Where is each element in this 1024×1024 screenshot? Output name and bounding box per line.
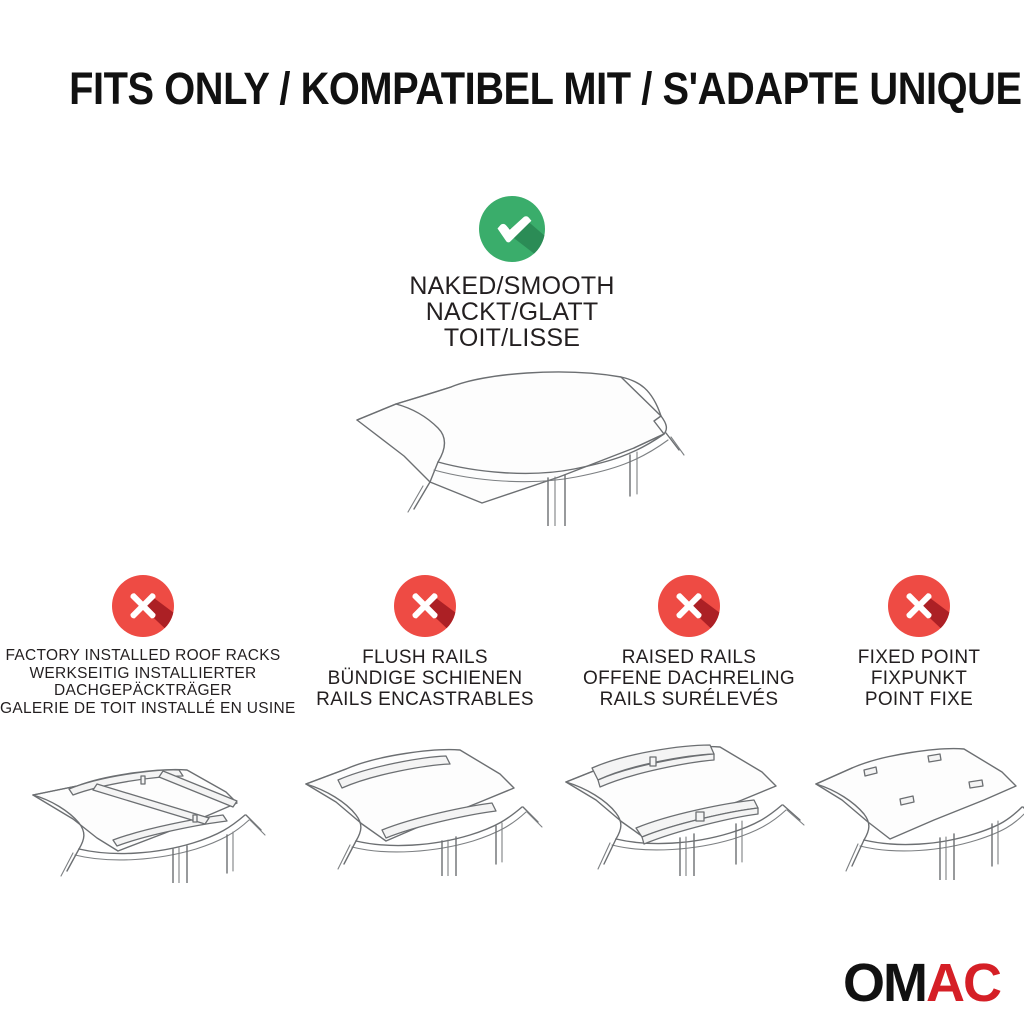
x-circle-icon xyxy=(394,575,456,637)
car-roof-factory-installed-roof-racks-illustration xyxy=(0,743,286,883)
rejected-caption-3: FIXED POINT FIXPUNKT POINT FIXE xyxy=(814,647,1024,710)
check-circle-icon xyxy=(479,196,545,262)
compatibility-infographic: FITS ONLY / KOMPATIBEL MIT / S'ADAPTE UN… xyxy=(0,0,1024,1024)
rejected-1-line-2: BÜNDIGE SCHIENEN xyxy=(286,668,564,689)
x-circle-icon xyxy=(888,575,950,637)
rejected-0-line-1: FACTORY INSTALLED ROOF RACKS xyxy=(0,647,286,665)
rejected-2-line-3: RAILS SURÉLEVÉS xyxy=(564,689,814,710)
rejected-caption-0: FACTORY INSTALLED ROOF RACKS WERKSEITIG … xyxy=(0,647,286,717)
rejected-0-line-2: WERKSEITIG INSTALLIERTER xyxy=(0,665,286,683)
omac-logo: OMAC xyxy=(843,956,1000,1010)
page-title-text: FITS ONLY / KOMPATIBEL MIT / S'ADAPTE UN… xyxy=(69,64,1024,114)
rejected-0-line-3: DACHGEPÄCKTRÄGER xyxy=(0,682,286,700)
rejected-3-line-2: FIXPUNKT xyxy=(814,668,1024,689)
rejected-2-line-1: RAISED RAILS xyxy=(564,647,814,668)
rejected-2-line-2: OFFENE DACHRELING xyxy=(564,668,814,689)
rejected-3-line-1: FIXED POINT xyxy=(814,647,1024,668)
rejected-roof-type-fixed-point: FIXED POINT FIXPUNKT POINT FIXE xyxy=(814,575,1024,880)
approved-line-1: NAKED/SMOOTH xyxy=(0,273,1024,299)
rejected-0-line-4: GALERIE DE TOIT INSTALLÉ EN USINE xyxy=(0,700,286,718)
car-roof-naked-smooth-illustration xyxy=(334,356,694,526)
rejected-roof-type-flush-rails: FLUSH RAILS BÜNDIGE SCHIENEN RAILS ENCAS… xyxy=(286,575,564,876)
rejected-1-line-1: FLUSH RAILS xyxy=(286,647,564,668)
page-title: FITS ONLY / KOMPATIBEL MIT / S'ADAPTE UN… xyxy=(0,64,1024,114)
x-circle-icon xyxy=(112,575,174,637)
approved-line-3: TOIT/LISSE xyxy=(0,325,1024,351)
x-circle-icon xyxy=(658,575,720,637)
approved-caption: NAKED/SMOOTH NACKT/GLATT TOIT/LISSE xyxy=(0,273,1024,351)
approved-roof-type: NAKED/SMOOTH NACKT/GLATT TOIT/LISSE xyxy=(0,196,1024,351)
rejected-roof-types: FACTORY INSTALLED ROOF RACKS WERKSEITIG … xyxy=(0,575,1024,883)
rejected-caption-2: RAISED RAILS OFFENE DACHRELING RAILS SUR… xyxy=(564,647,814,710)
approved-line-2: NACKT/GLATT xyxy=(0,299,1024,325)
car-roof-raised-rails-illustration xyxy=(564,736,814,876)
rejected-roof-type-raised-rails: RAISED RAILS OFFENE DACHRELING RAILS SUR… xyxy=(564,575,814,876)
rejected-1-line-3: RAILS ENCASTRABLES xyxy=(286,689,564,710)
car-roof-fixed-point-illustration xyxy=(814,740,1024,880)
rejected-roof-type-factory-installed: FACTORY INSTALLED ROOF RACKS WERKSEITIG … xyxy=(0,575,286,883)
logo-text-black: OM xyxy=(843,956,926,1010)
rejected-3-line-3: POINT FIXE xyxy=(814,689,1024,710)
logo-text-red: AC xyxy=(926,956,1000,1010)
car-roof-flush-rails-illustration xyxy=(286,736,564,876)
rejected-caption-1: FLUSH RAILS BÜNDIGE SCHIENEN RAILS ENCAS… xyxy=(286,647,564,710)
